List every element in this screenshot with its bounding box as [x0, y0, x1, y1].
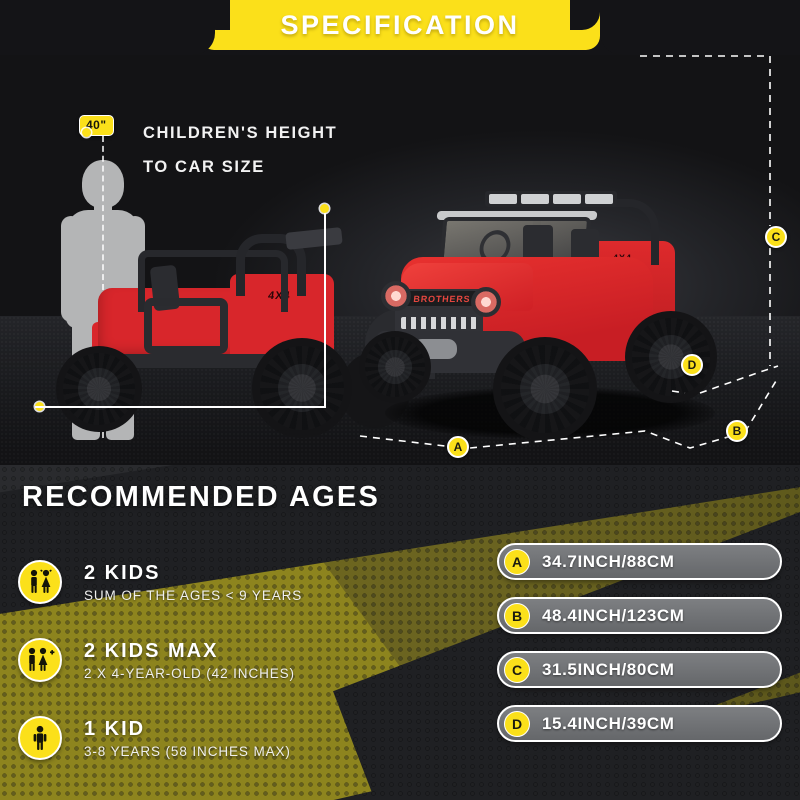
dimension-value-c: 31.5INCH/80CM: [542, 660, 675, 680]
grille-brand-badge: BROTHERS: [404, 291, 480, 306]
main-wheel-rear: [625, 311, 717, 403]
dimension-pill-b: B 48.4INCH/123CM: [497, 597, 782, 634]
measure-dot-corner: [320, 204, 329, 213]
one-child-icon: [18, 716, 62, 760]
two-children-icon: [18, 560, 62, 604]
age-title: 2 KIDS MAX: [84, 640, 295, 663]
specification-infographic: SPECIFICATION CHILDREN'S HEIGHT TO CAR S…: [0, 0, 800, 800]
dimension-badge-b: B: [504, 603, 530, 629]
age-row: 2 KIDS SUM OF THE AGES < 9 YEARS: [18, 543, 478, 621]
dimension-badge-a: A: [504, 549, 530, 575]
dimension-value-d: 15.4INCH/39CM: [542, 714, 675, 734]
main-wheel-far: [359, 331, 431, 403]
roof-light-bar: [485, 191, 617, 207]
height-measure-line: [324, 208, 326, 408]
age-row: 1 KID 3-8 YEARS (58 INCHES MAX): [18, 699, 478, 777]
header-right-cut: [600, 0, 800, 55]
side-wheel-rear: [252, 338, 352, 438]
dimension-pill-a: A 34.7INCH/88CM: [497, 543, 782, 580]
vehicle-side-view: 4X4: [40, 226, 360, 441]
header-band-shape: SPECIFICATION: [200, 0, 600, 50]
dimension-pill-d: D 15.4INCH/39CM: [497, 705, 782, 742]
header-left-cut: [0, 0, 215, 55]
marker-d: D: [681, 354, 703, 376]
caption-line-1: CHILDREN'S HEIGHT: [143, 124, 337, 143]
age-subtitle: 3-8 YEARS (58 INCHES MAX): [84, 744, 291, 759]
section-title: RECOMMENDED AGES: [22, 481, 380, 514]
age-subtitle: 2 X 4-YEAR-OLD (42 INCHES): [84, 666, 295, 681]
headlight-left: [381, 281, 411, 311]
two-children-plus-icon: [18, 638, 62, 682]
caption-line-2: TO CAR SIZE: [143, 158, 265, 177]
dimension-badge-c: C: [504, 657, 530, 683]
dimensions-list: A 34.7INCH/88CM B 48.4INCH/123CM C 31.5I…: [497, 543, 782, 759]
headlight-right: [471, 287, 501, 317]
age-subtitle: SUM OF THE AGES < 9 YEARS: [84, 588, 302, 603]
ages-list: 2 KIDS SUM OF THE AGES < 9 YEARS: [18, 543, 478, 777]
marker-c: C: [765, 226, 787, 248]
vehicle-front-view: 4X4 BROTHERS: [375, 191, 735, 451]
recommended-ages-section: RECOMMENDED AGES: [0, 465, 800, 800]
dimension-pill-c: C 31.5INCH/80CM: [497, 651, 782, 688]
product-photo-area: CHILDREN'S HEIGHT TO CAR SIZE 40" 4X4: [0, 36, 800, 466]
age-title: 2 KIDS: [84, 562, 302, 585]
header-banner: SPECIFICATION: [0, 0, 800, 55]
age-title: 1 KID: [84, 718, 291, 741]
marker-a: A: [447, 436, 469, 458]
marker-b: B: [726, 420, 748, 442]
height-dot-top: [82, 128, 91, 137]
side-wheel-front: [56, 346, 142, 432]
length-measure-line: [35, 406, 325, 408]
dimension-value-b: 48.4INCH/123CM: [542, 606, 685, 626]
main-wheel-front: [493, 337, 597, 441]
dimension-value-a: 34.7INCH/88CM: [542, 552, 675, 572]
age-row: 2 KIDS MAX 2 X 4-YEAR-OLD (42 INCHES): [18, 621, 478, 699]
page-title: SPECIFICATION: [280, 10, 519, 41]
dimension-badge-d: D: [504, 711, 530, 737]
